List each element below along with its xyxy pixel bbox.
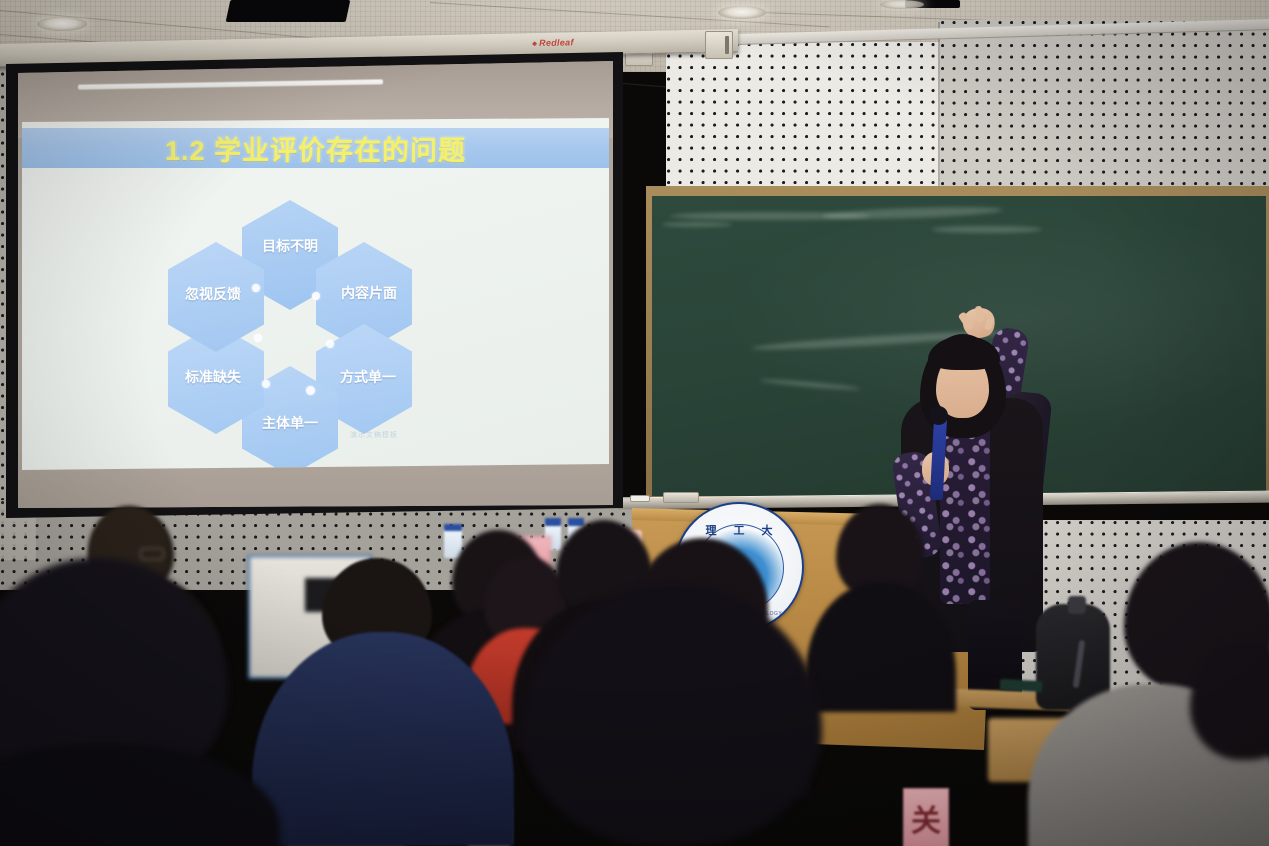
hex-connector-dot bbox=[252, 284, 260, 292]
chalk-stick bbox=[630, 495, 650, 502]
lecture-hall-scene: Redleaf 1.2 学业评价存在的问题 目标不明 内容片面 方式 bbox=[0, 0, 1269, 846]
screen-brand-label: Redleaf bbox=[532, 37, 574, 48]
hex-connector-dot bbox=[306, 386, 315, 395]
hex-connector-dot bbox=[326, 340, 334, 348]
ceiling-opening bbox=[226, 0, 351, 22]
backpack-handle bbox=[1068, 596, 1086, 614]
redleaf-icon bbox=[532, 41, 537, 46]
slide-watermark: 演示文稿模板 bbox=[350, 430, 398, 440]
hex-connector-dot bbox=[254, 334, 262, 342]
hex-label-upper-right: 内容片面 bbox=[341, 283, 397, 303]
blackboard-eraser bbox=[663, 492, 699, 503]
hex-label-bottom: 主体单一 bbox=[262, 413, 318, 433]
microphone-head bbox=[929, 406, 948, 425]
hex-label-upper-left: 忽视反馈 bbox=[185, 284, 241, 304]
screen-housing-endcap bbox=[705, 31, 733, 59]
presentation-slide: 1.2 学业评价存在的问题 目标不明 内容片面 方式单一 主体单一 标准缺失 bbox=[22, 118, 609, 470]
ceiling-downlight-far bbox=[880, 0, 924, 9]
hex-label-lower-right: 方式单一 bbox=[340, 367, 396, 387]
slide-title-bar: 1.2 学业评价存在的问题 bbox=[22, 128, 609, 168]
bottle-cap bbox=[568, 518, 584, 526]
audience-shoulders-foreground bbox=[0, 744, 280, 846]
phone-on-desk bbox=[1000, 679, 1043, 692]
emblem-text: 理 工 大 bbox=[676, 522, 802, 538]
slide-title: 1.2 学业评价存在的问题 bbox=[165, 129, 466, 168]
ceiling-downlight-right bbox=[718, 6, 766, 19]
bottle-cap bbox=[545, 518, 561, 526]
brand-text: Redleaf bbox=[539, 37, 574, 48]
ceiling-downlight-left bbox=[37, 17, 87, 31]
hex-label-lower-left: 标准缺失 bbox=[185, 367, 241, 387]
hexagon-diagram: 目标不明 内容片面 方式单一 主体单一 标准缺失 忽视反馈 bbox=[140, 200, 420, 430]
pink-placard-front: 关 bbox=[903, 788, 949, 846]
hex-connector-dot bbox=[262, 380, 270, 388]
eyeglasses-icon bbox=[140, 548, 164, 560]
hex-label-top: 目标不明 bbox=[262, 236, 318, 256]
pink-placard-text: 关 bbox=[911, 796, 941, 840]
bottle-cap bbox=[444, 524, 462, 531]
hex-connector-dot bbox=[312, 292, 320, 300]
